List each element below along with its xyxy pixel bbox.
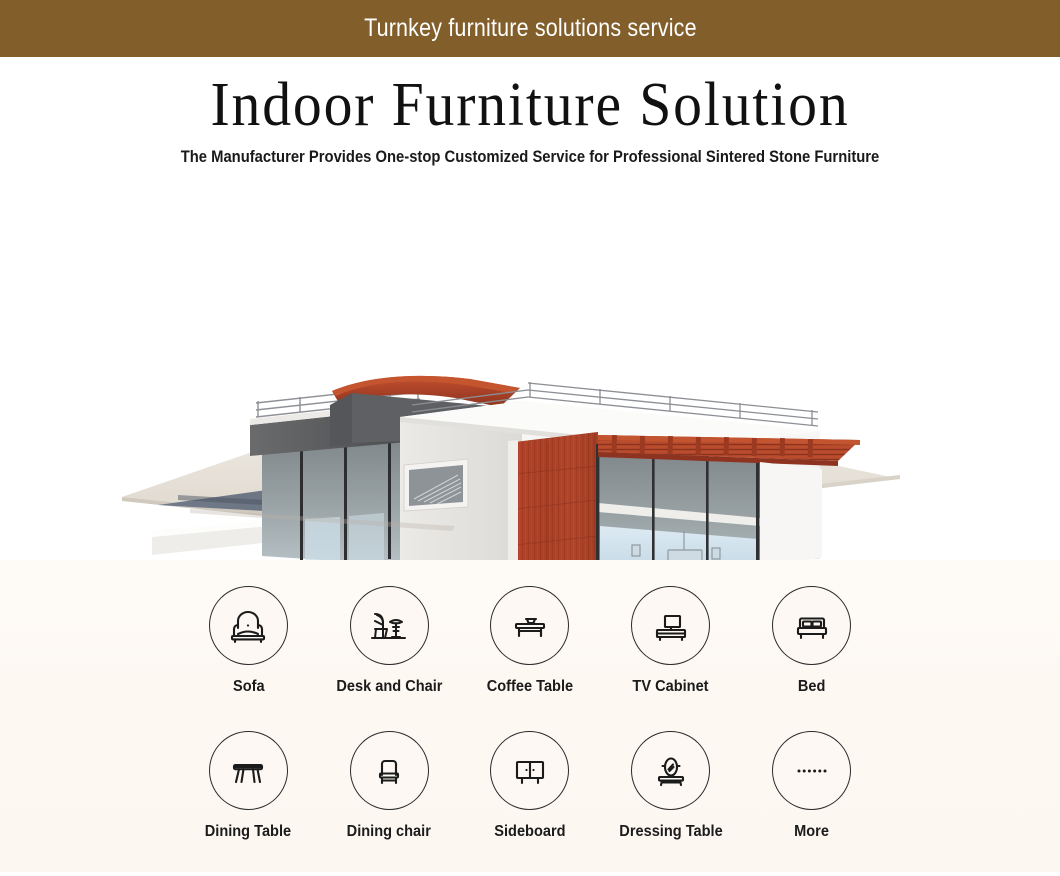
category-label: Sofa	[233, 678, 265, 696]
category-item-dining-table[interactable]: Dining Table	[178, 731, 319, 876]
category-label: Dining chair	[347, 823, 431, 841]
heading-block: Indoor Furniture Solution The Manufactur…	[0, 57, 1060, 179]
category-item-tv-cabinet[interactable]: TV Cabinet	[600, 586, 741, 731]
category-icon-circle[interactable]	[209, 731, 288, 810]
sofa-icon	[223, 601, 273, 651]
category-icon-circle[interactable]	[350, 586, 429, 665]
category-item-dressing-table[interactable]: Dressing Table	[600, 731, 741, 876]
furniture-category-section: Sofa	[0, 560, 1060, 872]
category-icon-circle[interactable]	[772, 586, 851, 665]
category-label: Sideboard	[494, 823, 565, 841]
category-label: More	[794, 823, 829, 841]
page-title: Indoor Furniture Solution	[37, 57, 1023, 138]
ellipsis-icon	[787, 746, 837, 796]
top-banner-title: Turnkey furniture solutions service	[364, 14, 697, 43]
category-label: TV Cabinet	[633, 678, 709, 696]
category-item-bed[interactable]: Bed	[741, 586, 882, 731]
category-icon-circle[interactable]	[772, 731, 851, 810]
house-illustration	[0, 179, 1060, 560]
hero-house-rendering	[0, 179, 1060, 560]
category-label: Desk and Chair	[336, 678, 442, 696]
category-item-sofa[interactable]: Sofa	[178, 586, 319, 731]
category-item-desk-and-chair[interactable]: Desk and Chair	[319, 586, 460, 731]
desk-and-chair-icon	[364, 601, 414, 651]
dining-chair-icon	[364, 746, 414, 796]
dressing-table-icon	[646, 746, 696, 796]
furniture-category-grid: Sofa	[178, 586, 882, 876]
category-item-coffee-table[interactable]: Coffee Table	[460, 586, 601, 731]
category-icon-circle[interactable]	[490, 586, 569, 665]
top-banner: Turnkey furniture solutions service	[0, 0, 1060, 57]
category-label: Dining Table	[205, 823, 291, 841]
bed-icon	[787, 601, 837, 651]
category-label: Dressing Table	[619, 823, 722, 841]
page-root: Turnkey furniture solutions service Indo…	[0, 0, 1060, 872]
category-icon-circle[interactable]	[631, 586, 710, 665]
category-label: Coffee Table	[487, 678, 573, 696]
category-item-dining-chair[interactable]: Dining chair	[319, 731, 460, 876]
category-icon-circle[interactable]	[490, 731, 569, 810]
category-item-more[interactable]: More	[741, 731, 882, 876]
category-item-sideboard[interactable]: Sideboard	[460, 731, 601, 876]
category-icon-circle[interactable]	[631, 731, 710, 810]
category-label: Bed	[798, 678, 826, 696]
category-icon-circle[interactable]	[350, 731, 429, 810]
dining-table-icon	[223, 746, 273, 796]
page-subtitle: The Manufacturer Provides One-stop Custo…	[69, 138, 991, 167]
category-icon-circle[interactable]	[209, 586, 288, 665]
coffee-table-icon	[505, 601, 555, 651]
tv-cabinet-icon	[646, 601, 696, 651]
sideboard-icon	[505, 746, 555, 796]
